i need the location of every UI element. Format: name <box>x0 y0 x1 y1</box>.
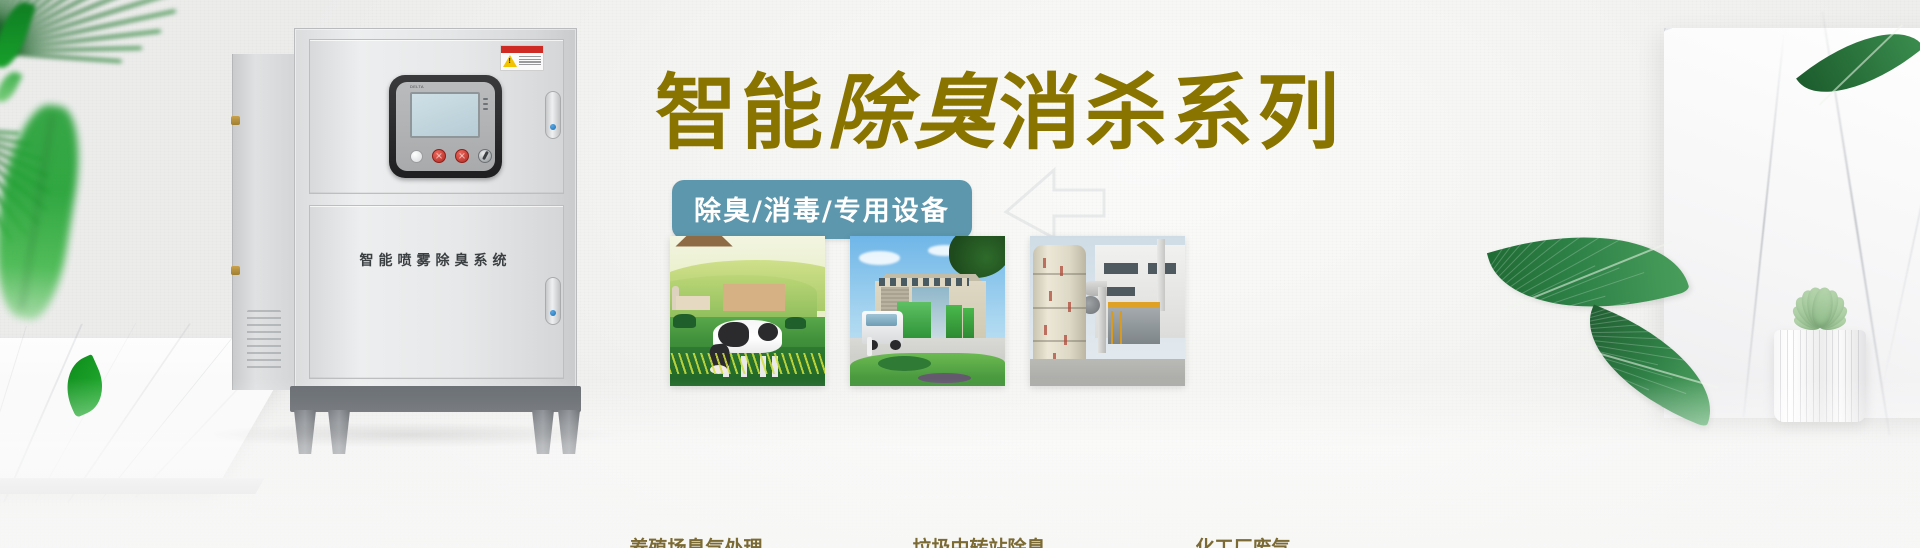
t2-cloud <box>859 251 899 265</box>
t3-stair-rail <box>1120 311 1122 344</box>
t2-green-panel <box>963 308 974 338</box>
caption-2: 垃圾中转站除臭 <box>912 533 1045 548</box>
warning-label-body <box>501 53 543 69</box>
page-title: 智能除臭消杀系列 <box>655 72 1343 155</box>
floor-gradient <box>0 378 1920 548</box>
hinge-icon <box>231 266 240 275</box>
headline-part-1: 智能 <box>655 66 827 161</box>
warning-label-header <box>501 46 543 53</box>
t2-green-panel <box>946 305 962 338</box>
lock-icon <box>550 310 556 316</box>
t1-distant-cow <box>673 314 696 328</box>
t2-truck-windshield <box>866 314 897 326</box>
hmi-status-leds <box>483 98 488 113</box>
power-indicator-button[interactable] <box>410 150 423 163</box>
hmi-touchscreen[interactable] <box>410 92 480 138</box>
t3-window <box>1104 263 1138 274</box>
hinge-icon <box>231 116 240 125</box>
t2-clerestory-windows <box>879 278 969 286</box>
cabinet-door-bottom <box>309 205 564 379</box>
mode-selector-knob[interactable] <box>478 149 492 163</box>
t1-distant-cow <box>785 317 807 329</box>
t3-yellow-handrail <box>1108 302 1161 308</box>
warning-text-lines <box>519 55 541 67</box>
hmi-control-panel: DELTA <box>389 75 502 178</box>
thumbnail-garbage-transfer-station[interactable] <box>850 236 1005 386</box>
machine-side-panel <box>232 54 298 390</box>
t2-person <box>867 337 872 357</box>
vent-grille-icon <box>247 310 281 372</box>
application-captions: 养殖场臭气处理 垃圾中转站除臭 化工厂废气 <box>0 533 1920 548</box>
application-thumbnails <box>670 236 1185 386</box>
headline-part-2: 除臭 <box>827 65 999 161</box>
door-handle-top[interactable] <box>545 91 561 139</box>
alarm-reset-button[interactable] <box>455 149 469 163</box>
emergency-stop-button[interactable] <box>432 149 446 163</box>
t1-barn <box>723 284 785 311</box>
hmi-brand-label: DELTA <box>410 84 424 89</box>
caption-3: 化工厂废气 <box>1196 533 1291 548</box>
t3-scrubber-tower <box>1033 245 1086 374</box>
machine-cabinet: DELTA <box>294 28 577 390</box>
t1-outbuilding <box>676 296 710 310</box>
thumbnail-farm-livestock[interactable] <box>670 236 825 386</box>
caption-1: 养殖场臭气处理 <box>629 533 762 548</box>
t3-vertical-duct <box>1098 287 1106 353</box>
t3-stair-rail <box>1111 311 1113 344</box>
hazard-triangle-icon <box>503 55 517 67</box>
danger-warning-label-icon <box>500 45 544 71</box>
door-handle-bottom[interactable] <box>545 277 561 325</box>
t3-exhaust-stack <box>1157 239 1165 311</box>
t2-wheel <box>890 340 901 351</box>
t3-window <box>1104 287 1135 296</box>
product-machine: DELTA <box>232 28 577 434</box>
thumbnail-industrial-deodorization-tower[interactable] <box>1030 236 1185 386</box>
hmi-faceplate: DELTA <box>396 82 495 171</box>
t2-hedge <box>878 356 931 371</box>
t3-equipment-skid <box>1108 305 1161 344</box>
subtitle-badge: 除臭/消毒/专用设备 <box>672 180 972 239</box>
lock-icon <box>550 124 556 130</box>
headline-part-3: 消杀系列 <box>999 66 1343 161</box>
t1-grass-blades <box>670 353 825 374</box>
product-banner: DELTA <box>0 0 1920 548</box>
t2-tree <box>949 236 1005 278</box>
machine-model-label: 智能喷雾除臭系统 <box>294 250 577 270</box>
